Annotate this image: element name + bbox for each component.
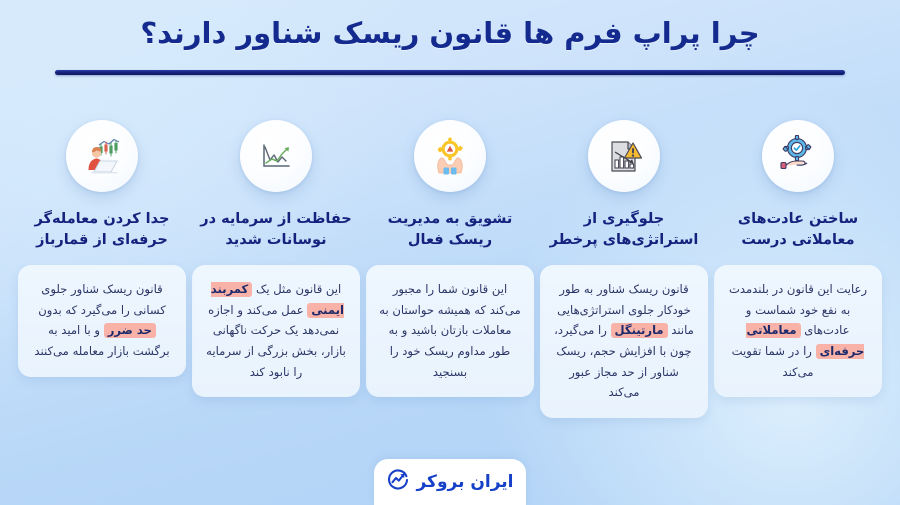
column-title-4: حفاظت از سرمایه در نوسانات شدید — [192, 209, 360, 255]
hands-holding-gear-alert-icon — [429, 135, 471, 177]
column-body-5: قانون ریسک شناور جلوی کسانی را می‌گیرد ک… — [30, 279, 174, 362]
column-5: جدا کردن معامله‌گر حرفه‌ای از قمارباز قا… — [18, 120, 186, 377]
document-declining-chart-warning-icon — [603, 135, 645, 177]
icon-badge-3 — [414, 120, 486, 192]
column-title-2: جلوگیری از استراتژی‌های پرخطر — [540, 209, 708, 255]
column-body-1: رعایت این قانون در بلندمدت به نفع خود شم… — [726, 279, 870, 382]
hand-holding-gear-check-icon — [777, 135, 819, 177]
title-divider — [55, 70, 845, 75]
column-card-3: این قانون شما را مجبور می‌کند که همیشه ح… — [366, 265, 534, 397]
column-body-2: قانون ریسک شناور به طور خودکار جلوی استر… — [552, 279, 696, 403]
icon-badge-2 — [588, 120, 660, 192]
infographic-poster: چرا پراپ فرم ها قانون ریسک شناور دارند؟ — [0, 0, 900, 505]
column-body-3: این قانون شما را مجبور می‌کند که همیشه ح… — [378, 279, 522, 382]
header: چرا پراپ فرم ها قانون ریسک شناور دارند؟ — [0, 14, 900, 52]
column-3: تشویق به مدیریت ریسک فعال این قانون شما … — [366, 120, 534, 397]
column-title-1: ساختن عادت‌های معاملاتی درست — [714, 209, 882, 255]
highlight-term: مارتینگل — [611, 323, 668, 338]
column-card-4: این قانون مثل یک کمربند ایمنی عمل می‌کند… — [192, 265, 360, 397]
footer-logo-tab[interactable]: ایران بروکر — [374, 459, 526, 505]
page-title: چرا پراپ فرم ها قانون ریسک شناور دارند؟ — [0, 14, 900, 52]
logo-text: ایران بروکر — [416, 472, 513, 492]
column-card-1: رعایت این قانون در بلندمدت به نفع خود شم… — [714, 265, 882, 397]
column-card-5: قانون ریسک شناور جلوی کسانی را می‌گیرد ک… — [18, 265, 186, 377]
body-text-before: این قانون شما را مجبور می‌کند که همیشه ح… — [379, 282, 520, 379]
highlight-term: حد ضرر — [104, 323, 156, 338]
body-text-before: این قانون مثل یک — [252, 282, 341, 296]
icon-badge-5 — [66, 120, 138, 192]
trader-at-laptop-candlestick-icon — [80, 134, 124, 178]
body-text-after: را در شما تقویت می‌کند — [732, 344, 816, 379]
column-card-2: قانون ریسک شناور به طور خودکار جلوی استر… — [540, 265, 708, 418]
body-text-before: قانون ریسک شناور جلوی کسانی را می‌گیرد ک… — [38, 282, 165, 317]
icon-badge-1 — [762, 120, 834, 192]
column-title-3: تشویق به مدیریت ریسک فعال — [366, 209, 534, 255]
circle-chart-arrow-icon — [386, 468, 410, 496]
icon-badge-4 — [240, 120, 312, 192]
column-1: ساختن عادت‌های معاملاتی درست رعایت این ق… — [714, 120, 882, 397]
column-title-5: جدا کردن معامله‌گر حرفه‌ای از قمارباز — [18, 209, 186, 255]
column-body-4: این قانون مثل یک کمربند ایمنی عمل می‌کند… — [204, 279, 348, 382]
columns-container: ساختن عادت‌های معاملاتی درست رعایت این ق… — [18, 120, 882, 418]
column-4: حفاظت از سرمایه در نوسانات شدید این قانو… — [192, 120, 360, 397]
line-chart-volatility-icon — [255, 135, 297, 177]
column-2: جلوگیری از استراتژی‌های پرخطر قانون ریسک… — [540, 120, 708, 418]
